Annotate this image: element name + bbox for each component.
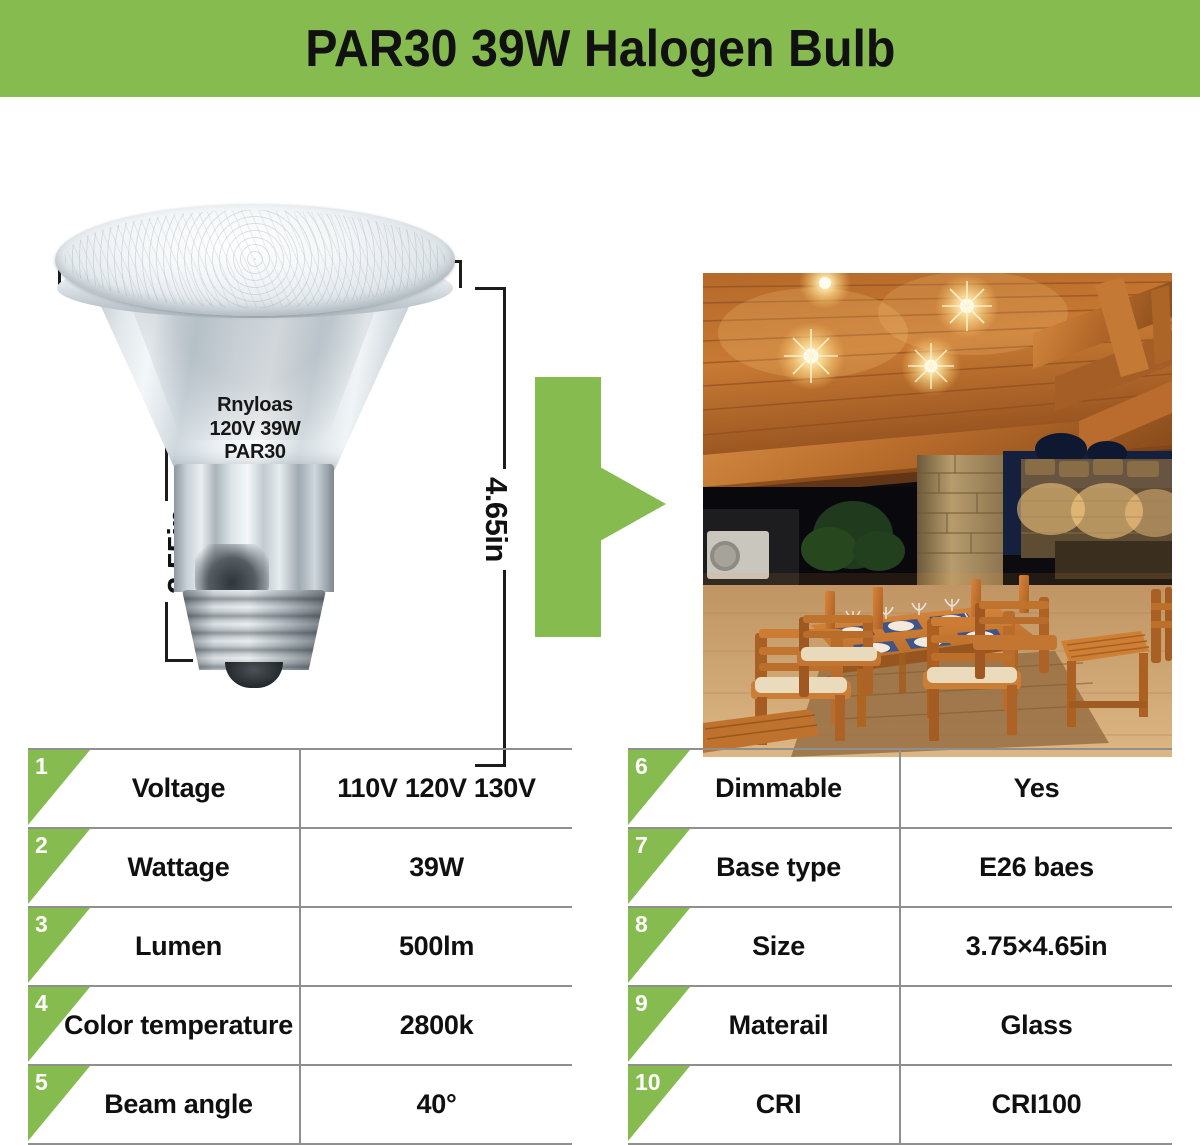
spec-key-label: Color temperature (64, 1010, 293, 1041)
spec-value-label: Glass (1000, 1010, 1072, 1041)
spec-value-label: 110V 120V 130V (337, 773, 536, 804)
green-arrow-head-icon (600, 467, 666, 541)
table-row: 8 Size 3.75×4.65in (628, 906, 1172, 985)
spec-key-cell: Voltage (28, 750, 301, 827)
spec-key-cell: Color temperature (28, 987, 301, 1064)
spec-value-cell: Yes (901, 750, 1172, 827)
green-arrow-bar (535, 377, 601, 637)
spec-value-label: E26 baes (979, 852, 1094, 883)
dimension-width-tick-right (459, 260, 462, 288)
spec-value-label: 40° (417, 1089, 457, 1120)
table-row: 10 CRI CRI100 (628, 1064, 1172, 1145)
bulb-rating-text: 120V 39W (89, 418, 421, 442)
spec-key-cell: Lumen (28, 908, 301, 985)
spec-value-cell: Glass (901, 987, 1172, 1064)
spec-value-cell: 39W (301, 829, 572, 906)
spec-value-cell: 500lm (301, 908, 572, 985)
bulb-neck-shadow (195, 544, 269, 592)
table-row: 7 Base type E26 baes (628, 827, 1172, 906)
spec-value-label: 500lm (399, 931, 474, 962)
spec-key-label: Beam angle (104, 1089, 253, 1120)
dimension-height-label: 4.65in (474, 469, 518, 570)
spec-key-label: Dimmable (715, 773, 842, 804)
table-row: 2 Wattage 39W (28, 827, 572, 906)
dimension-height-tick-top (475, 287, 506, 290)
header-banner: PAR30 39W Halogen Bulb (0, 0, 1200, 97)
page-title: PAR30 39W Halogen Bulb (305, 23, 895, 75)
spec-key-label: Base type (716, 852, 841, 883)
spec-key-cell: Beam angle (28, 1066, 301, 1143)
spec-key-cell: Base type (628, 829, 901, 906)
bulb-lens-faceted-texture (65, 210, 445, 308)
spec-key-label: Size (752, 931, 805, 962)
spec-key-cell: CRI (628, 1066, 901, 1143)
spec-table-right: 6 Dimmable Yes 7 Base type E26 baes 8 Si… (628, 748, 1172, 1145)
spec-value-cell: CRI100 (901, 1066, 1172, 1143)
spec-value-label: 39W (409, 852, 464, 883)
spec-key-cell: Materail (628, 987, 901, 1064)
spec-key-cell: Dimmable (628, 750, 901, 827)
spec-key-cell: Wattage (28, 829, 301, 906)
spec-value-cell: E26 baes (901, 829, 1172, 906)
hero-section: 3.75in 4.65in 2.55in Rnyloas 120V 39W PA… (0, 97, 1200, 717)
table-row: 4 Color temperature 2800k (28, 985, 572, 1064)
bulb-printed-markings: Rnyloas 120V 39W PAR30 (89, 394, 421, 465)
spec-table-left: 1 Voltage 110V 120V 130V 2 Wattage 39W 3… (28, 748, 572, 1145)
spec-key-label: Wattage (128, 852, 230, 883)
table-row: 5 Beam angle 40° (28, 1064, 572, 1145)
bulb-brand-text: Rnyloas (89, 394, 421, 418)
bulb-e26-screw-base (182, 590, 326, 670)
spec-value-label: CRI100 (992, 1089, 1082, 1120)
spec-value-label: 2800k (400, 1010, 474, 1041)
spec-value-cell: 2800k (301, 987, 572, 1064)
product-bulb-illustration: Rnyloas 120V 39W PAR30 (55, 162, 455, 662)
spec-value-cell: 3.75×4.65in (901, 908, 1172, 985)
spec-value-label: 3.75×4.65in (966, 931, 1108, 962)
spec-value-cell: 110V 120V 130V (301, 750, 572, 827)
spec-key-label: Voltage (132, 773, 225, 804)
spec-key-label: CRI (756, 1089, 802, 1120)
spec-value-cell: 40° (301, 1066, 572, 1143)
spec-key-label: Lumen (135, 931, 222, 962)
table-row: 9 Materail Glass (628, 985, 1172, 1064)
spec-value-label: Yes (1014, 773, 1060, 804)
application-photo (703, 273, 1172, 757)
spec-key-label: Materail (729, 1010, 829, 1041)
table-row: 1 Voltage 110V 120V 130V (28, 748, 572, 827)
spec-key-cell: Size (628, 908, 901, 985)
table-row: 6 Dimmable Yes (628, 748, 1172, 827)
table-row: 3 Lumen 500lm (28, 906, 572, 985)
bulb-model-text: PAR30 (89, 441, 421, 465)
bulb-base-contact-tip (225, 662, 283, 688)
